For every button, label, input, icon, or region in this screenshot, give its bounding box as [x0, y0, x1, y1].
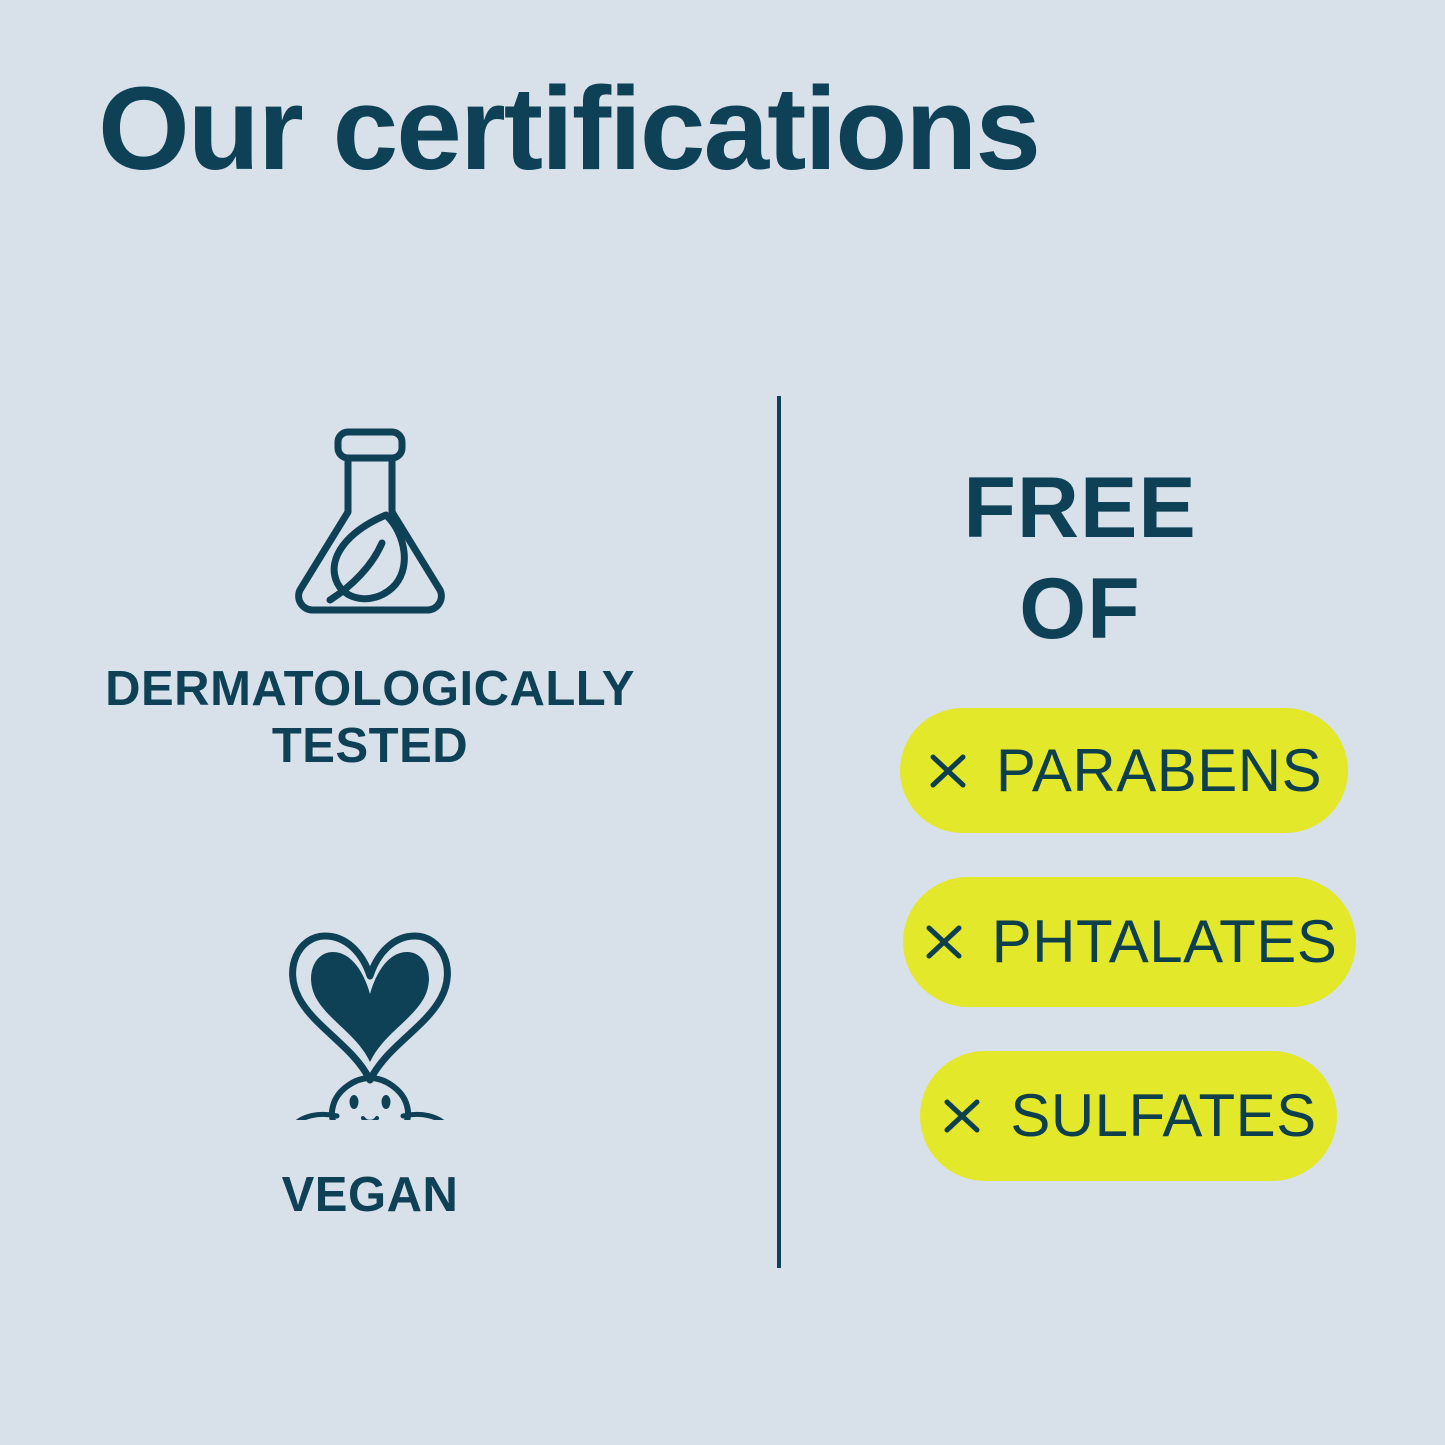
flask-leaf-icon [0, 420, 740, 625]
free-of-heading-line-2: OF [780, 559, 1380, 660]
free-of-heading-line-1: FREE [780, 458, 1380, 559]
certification-label: VEGAN [0, 1167, 740, 1224]
free-of-pill-label: PARABENS [996, 741, 1322, 801]
free-of-pill-phtalates: PHTALATES [903, 877, 1356, 1007]
x-icon [922, 920, 966, 964]
certification-item-vegan: VEGAN [0, 920, 740, 1224]
free-of-pill-parabens: PARABENS [900, 708, 1348, 833]
free-of-pill-sulfates: SULFATES [920, 1051, 1337, 1181]
certification-label-line-1: VEGAN [282, 1168, 459, 1222]
free-of-pill-label: PHTALATES [992, 912, 1338, 972]
certification-item-dermatologically-tested: DERMATOLOGICALLY TESTED [0, 420, 740, 776]
x-icon [926, 749, 970, 793]
free-of-column: FREE OF PARABENS PHTALATES SULFATE [780, 396, 1445, 1276]
free-of-pill-label: SULFATES [1010, 1086, 1316, 1146]
page-title: Our certifications [98, 70, 1039, 188]
free-of-heading: FREE OF [780, 458, 1380, 661]
x-icon [940, 1094, 984, 1138]
certification-label: DERMATOLOGICALLY TESTED [0, 661, 740, 776]
bunny-heart-ears-icon [0, 920, 740, 1125]
certifications-panel: Our certifications DERMATOLOGICALLY [0, 0, 1445, 1445]
certification-label-line-1: DERMATOLOGICALLY [105, 662, 635, 716]
certification-label-line-2: TESTED [272, 719, 468, 773]
